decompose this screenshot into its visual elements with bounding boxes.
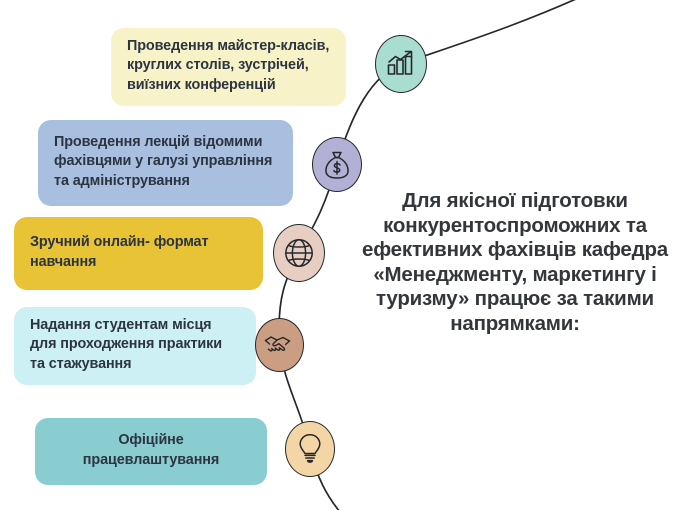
- handshake-icon: [264, 332, 296, 358]
- globe-icon: [283, 237, 315, 269]
- benefit-card-label: Проведення лекцій відомими фахівцями у г…: [54, 133, 277, 190]
- growth-chart-icon: [386, 50, 416, 78]
- benefit-card-label: Проведення майстер-класів, круглих столі…: [127, 37, 330, 94]
- infographic-canvas: Проведення майстер-класів, круглих столі…: [0, 0, 680, 510]
- money-bag-icon: [323, 150, 351, 180]
- icon-bubble-handshake[interactable]: [255, 318, 304, 372]
- benefit-card-official-employment[interactable]: Офіційне працевлаштування: [35, 418, 267, 485]
- icon-bubble-lightbulb[interactable]: [285, 421, 335, 477]
- benefit-card-label: Зручний онлайн- формат навчання: [30, 233, 247, 271]
- icon-bubble-money-bag[interactable]: [312, 137, 362, 192]
- benefit-card-label: Офіційне працевлаштування: [51, 431, 251, 469]
- benefit-card-expert-lectures[interactable]: Проведення лекцій відомими фахівцями у г…: [38, 120, 293, 206]
- page-title: Для якісної підготовки конкурентоспромож…: [356, 189, 674, 337]
- benefit-card-label: Надання студентам місця для проходження …: [30, 316, 240, 373]
- benefit-card-online-format[interactable]: Зручний онлайн- формат навчання: [14, 217, 263, 290]
- benefit-card-internship-places[interactable]: Надання студентам місця для проходження …: [14, 307, 256, 385]
- icon-bubble-globe[interactable]: [273, 224, 325, 282]
- lightbulb-icon: [297, 433, 323, 465]
- icon-bubble-growth-chart[interactable]: [375, 35, 427, 93]
- benefit-card-master-classes[interactable]: Проведення майстер-класів, круглих столі…: [111, 28, 346, 106]
